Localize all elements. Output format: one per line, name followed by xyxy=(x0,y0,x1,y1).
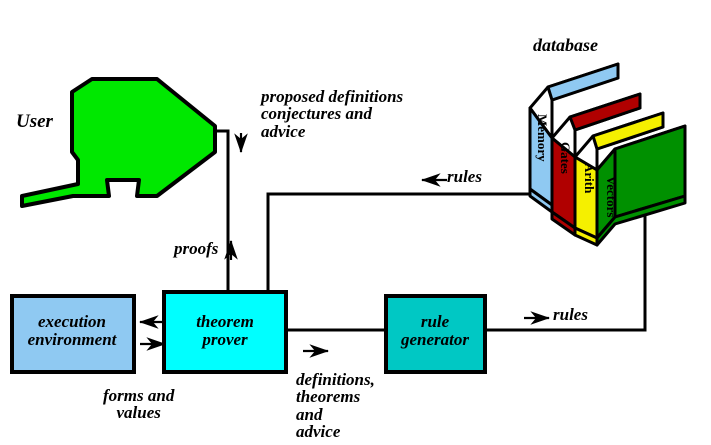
book-spine-memory: Memory xyxy=(534,114,550,162)
edge-database-to-prover xyxy=(268,194,530,292)
box-label-rule-generator: rule generator xyxy=(385,313,485,349)
edge-label-rules-from-db: rules xyxy=(447,168,482,185)
book-spine-vectors: Vectors xyxy=(603,176,619,217)
edge-label-definitions: definitions, theorems and advice xyxy=(296,371,375,440)
book-spine-arith: Arith xyxy=(581,163,597,193)
box-label-execution-environment: execution environment xyxy=(10,313,134,349)
book-spine-gates: Gates xyxy=(557,142,573,174)
box-label-theorem-prover: theorem prover xyxy=(160,313,290,349)
edge-label-proposed: proposed definitions conjectures and adv… xyxy=(261,88,403,140)
edge-label-rules-to-db: rules xyxy=(553,306,588,323)
edge-label-forms-values: forms and values xyxy=(103,387,174,422)
database-label: database xyxy=(533,36,598,54)
diagram-canvas: User database proposed definitions conje… xyxy=(0,0,711,445)
user-label: User xyxy=(16,112,53,131)
edge-user-to-prover xyxy=(215,131,228,292)
database-books[interactable] xyxy=(530,64,685,245)
edge-label-proofs: proofs xyxy=(174,240,218,257)
user-terminal-icon xyxy=(22,79,215,206)
